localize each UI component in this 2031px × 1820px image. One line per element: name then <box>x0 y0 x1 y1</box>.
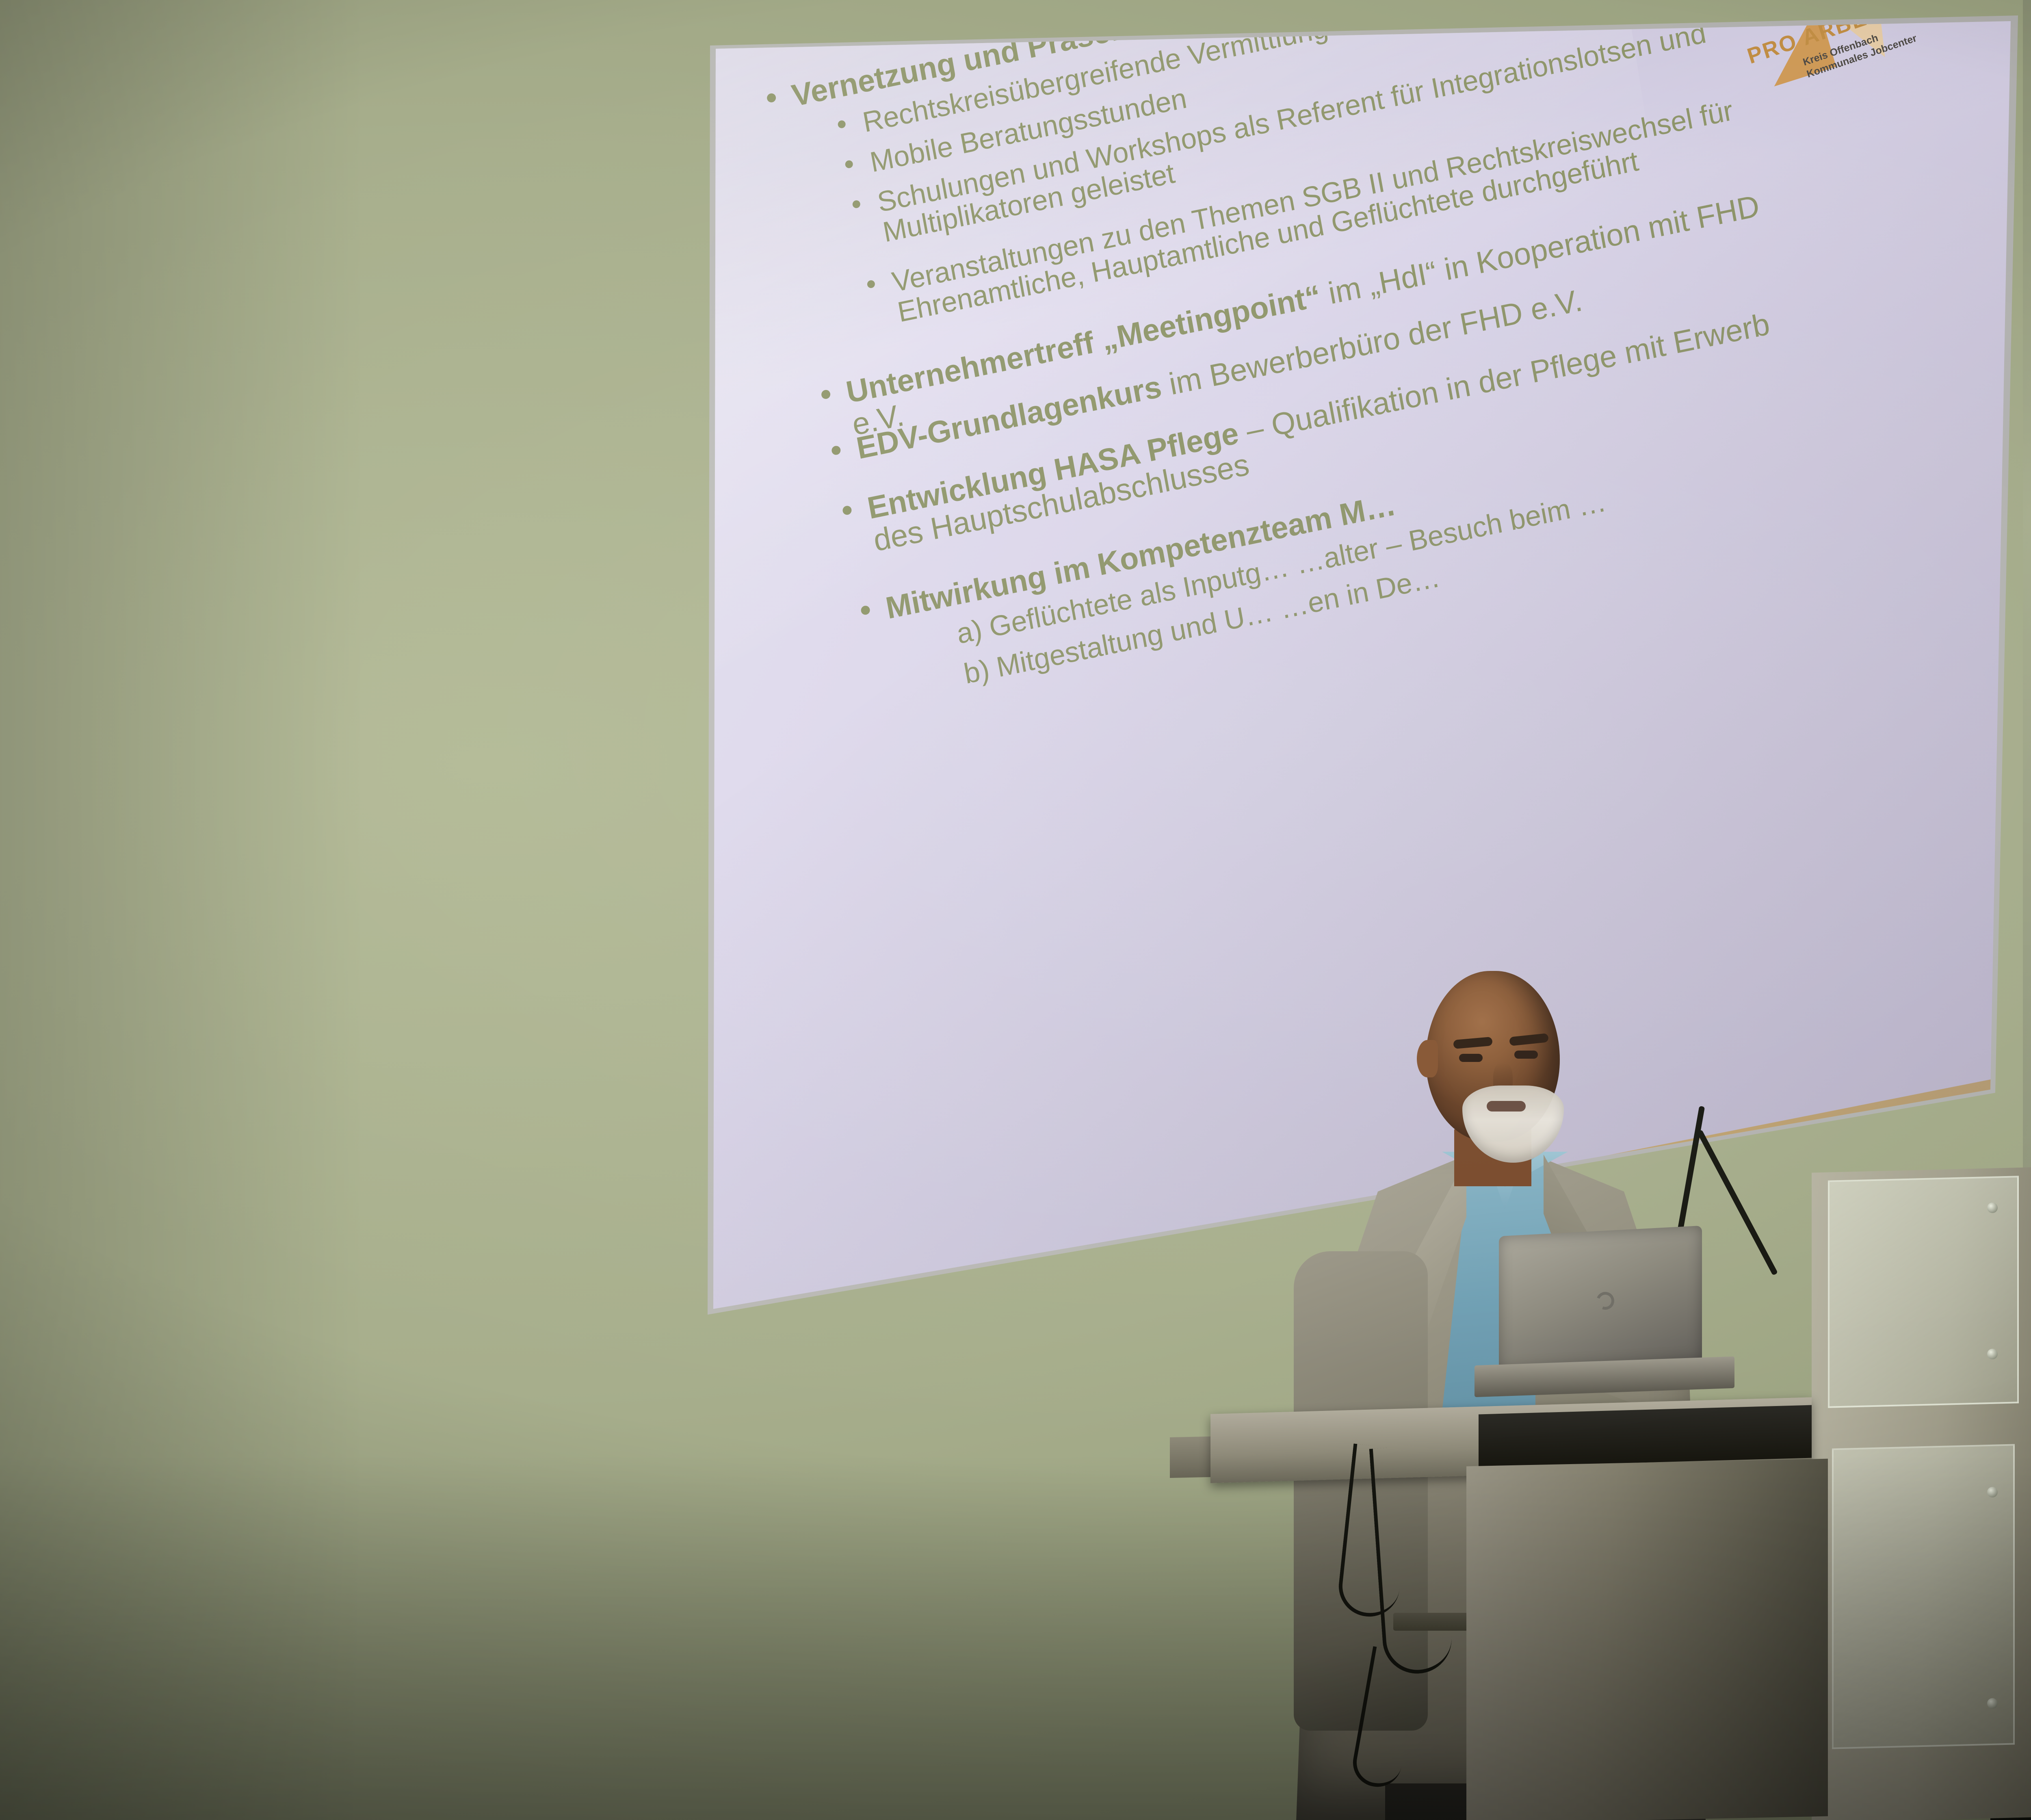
presenter-mouth <box>1487 1101 1526 1111</box>
bullet-marker <box>821 389 831 400</box>
bullet-marker <box>866 279 875 289</box>
presenter-eye <box>1514 1051 1538 1059</box>
bullet-marker <box>844 160 853 169</box>
bullet-marker <box>852 199 861 209</box>
panel-bolt <box>1987 1487 1998 1497</box>
bullet-marker <box>766 93 777 103</box>
panel-bolt <box>1987 1698 1998 1709</box>
bullet-marker <box>837 120 846 129</box>
bullet-marker <box>842 505 853 516</box>
lectern-front-lip <box>1479 1405 1812 1467</box>
bullet-marker <box>860 605 871 615</box>
presenter-ear <box>1417 1040 1438 1077</box>
panel-bolt <box>1987 1349 1998 1359</box>
panel-bolt <box>1987 1202 1998 1213</box>
presenter-eye <box>1459 1054 1483 1062</box>
room-wall-right-shading <box>2023 0 2031 1292</box>
bullet-marker <box>831 445 842 455</box>
photograph-scene: 3. Ergebnisse 2018 Vernetzung und Präsen… <box>0 0 2031 1820</box>
lectern-body <box>1466 1459 1828 1820</box>
